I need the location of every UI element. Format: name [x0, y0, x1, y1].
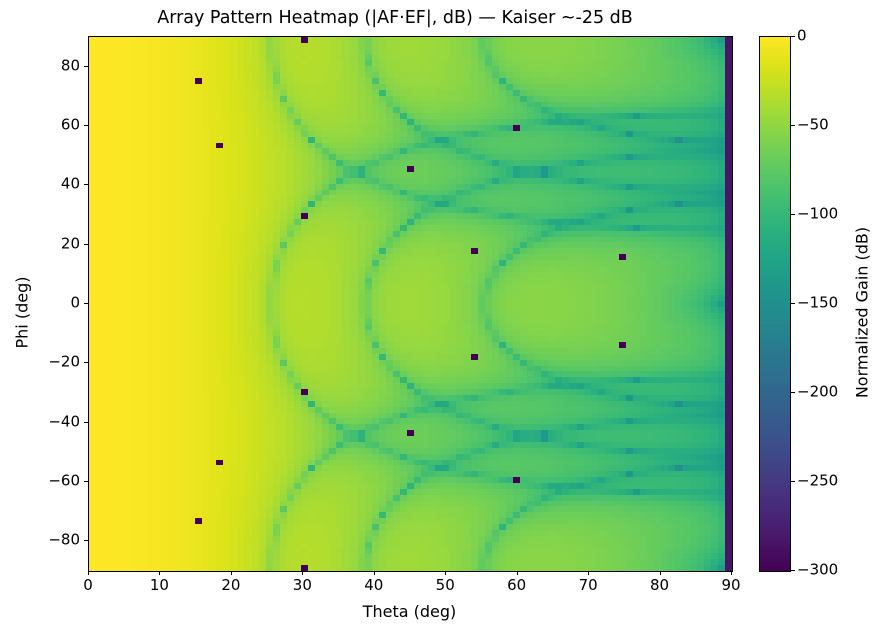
- y-tick-mark: [84, 125, 88, 126]
- y-tick-mark: [84, 540, 88, 541]
- y-tick-mark: [84, 422, 88, 423]
- colorbar-tick-mark: [791, 392, 795, 393]
- x-tick-mark: [231, 571, 232, 575]
- colorbar-tick-mark: [791, 36, 795, 37]
- y-tick-label: 40: [10, 176, 80, 193]
- colorbar[interactable]: [759, 36, 791, 572]
- y-tick-label: 80: [10, 57, 80, 74]
- x-tick-label: 80: [650, 577, 669, 594]
- x-tick-mark: [302, 571, 303, 575]
- colorbar-tick-label: −50: [797, 117, 829, 134]
- colorbar-label: Normalized Gain (dB): [853, 153, 872, 473]
- colorbar-tick-label: 0: [797, 28, 807, 45]
- x-tick-mark: [660, 571, 661, 575]
- x-tick-label: 50: [436, 577, 455, 594]
- heatmap-canvas[interactable]: [89, 37, 732, 571]
- y-tick-mark: [84, 184, 88, 185]
- colorbar-tick-mark: [791, 570, 795, 571]
- colorbar-canvas: [760, 37, 790, 571]
- x-tick-mark: [731, 571, 732, 575]
- x-axis-label: Theta (deg): [88, 602, 731, 621]
- x-tick-label: 60: [507, 577, 526, 594]
- x-tick-mark: [517, 571, 518, 575]
- chart-figure: Array Pattern Heatmap (|AF·EF|, dB) — Ka…: [0, 0, 885, 637]
- y-tick-label: 60: [10, 117, 80, 134]
- x-tick-label: 20: [221, 577, 240, 594]
- heatmap-plot-area[interactable]: [88, 36, 733, 572]
- x-tick-mark: [159, 571, 160, 575]
- x-tick-mark: [445, 571, 446, 575]
- chart-title: Array Pattern Heatmap (|AF·EF|, dB) — Ka…: [0, 7, 790, 29]
- y-axis-label-wrap: Phi (deg): [22, 0, 23, 637]
- x-tick-label: 10: [150, 577, 169, 594]
- colorbar-tick-label: −200: [797, 384, 838, 401]
- y-axis-label: Phi (deg): [13, 213, 32, 413]
- x-tick-label: 90: [721, 577, 740, 594]
- y-tick-mark: [84, 303, 88, 304]
- x-tick-mark: [374, 571, 375, 575]
- y-tick-label: −80: [10, 532, 80, 549]
- y-tick-mark: [84, 481, 88, 482]
- colorbar-tick-label: −250: [797, 473, 838, 490]
- x-tick-label: 70: [579, 577, 598, 594]
- colorbar-tick-label: −300: [797, 562, 838, 579]
- colorbar-tick-mark: [791, 303, 795, 304]
- colorbar-label-wrap: Normalized Gain (dB): [862, 0, 863, 637]
- x-tick-label: 30: [293, 577, 312, 594]
- x-tick-mark: [88, 571, 89, 575]
- y-tick-mark: [84, 244, 88, 245]
- y-tick-label: −60: [10, 473, 80, 490]
- colorbar-tick-label: −100: [797, 206, 838, 223]
- y-tick-mark: [84, 66, 88, 67]
- x-tick-mark: [588, 571, 589, 575]
- colorbar-tick-mark: [791, 481, 795, 482]
- colorbar-tick-label: −150: [797, 295, 838, 312]
- y-tick-label: −40: [10, 413, 80, 430]
- colorbar-tick-mark: [791, 125, 795, 126]
- x-tick-label: 40: [364, 577, 383, 594]
- x-tick-label: 0: [83, 577, 93, 594]
- y-tick-mark: [84, 362, 88, 363]
- colorbar-tick-mark: [791, 214, 795, 215]
